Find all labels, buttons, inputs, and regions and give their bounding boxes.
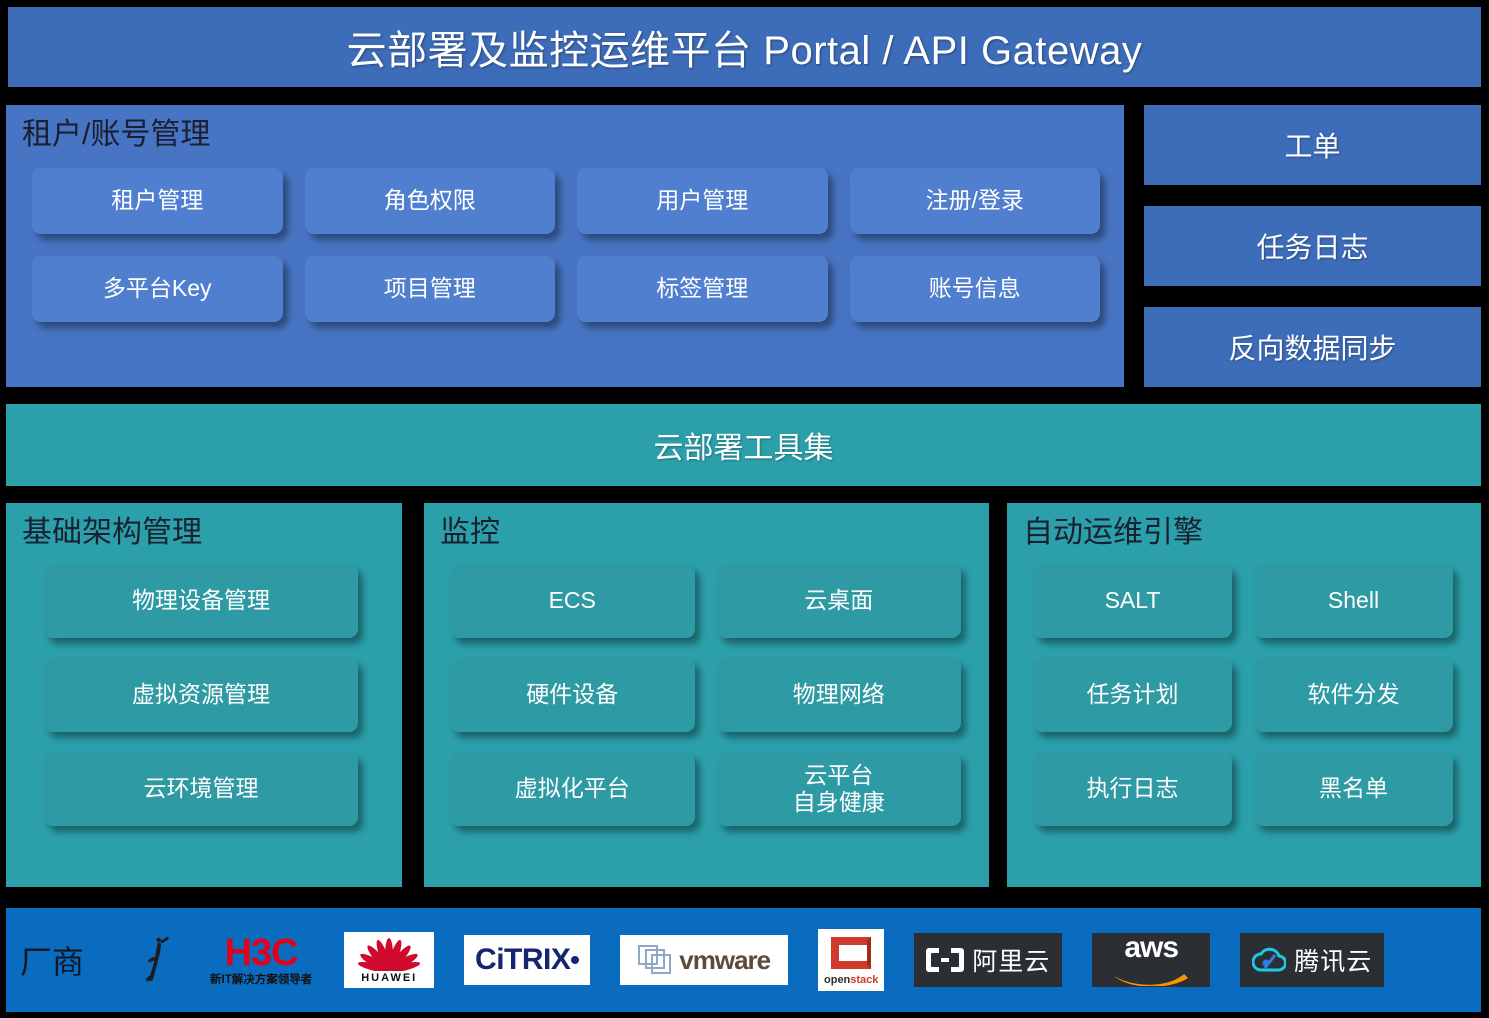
tenant-button[interactable]: 注册/登录 xyxy=(850,168,1101,234)
aws-wordmark: aws xyxy=(1124,934,1178,961)
monitoring-button[interactable]: 虚拟化平台 xyxy=(450,752,695,826)
tenant-button[interactable]: 项目管理 xyxy=(305,256,556,322)
tenant-button[interactable]: 标签管理 xyxy=(577,256,828,322)
openstack-wordmark: openstack xyxy=(824,974,878,986)
tenant-button[interactable]: 用户管理 xyxy=(577,168,828,234)
monitoring-button[interactable]: 物理网络 xyxy=(717,658,962,732)
monitoring-button[interactable]: 硬件设备 xyxy=(450,658,695,732)
monitoring-button[interactable]: 云桌面 xyxy=(717,564,962,638)
citrix-logo: CiTRIX xyxy=(464,935,590,985)
aws-swoosh-icon xyxy=(1112,970,1190,986)
tenant-button[interactable]: 账号信息 xyxy=(850,256,1101,322)
aws-logo: aws xyxy=(1092,933,1210,987)
h3c-logo: H3C 新IT解决方案领导者 xyxy=(208,932,314,988)
toolset-title: 云部署工具集 xyxy=(654,423,834,467)
automation-button[interactable]: SALT xyxy=(1033,564,1232,638)
automation-button[interactable]: Shell xyxy=(1254,564,1453,638)
vmware-wordmark: vmware xyxy=(679,945,770,976)
side-block-task-log[interactable]: 任务日志 xyxy=(1144,206,1481,286)
vmware-squares-icon xyxy=(638,945,672,975)
tenant-account-management-panel: 租户/账号管理 租户管理 角色权限 用户管理 注册/登录 多平台Key 项目管理… xyxy=(6,105,1124,387)
aliyun-logo: 阿里云 xyxy=(914,933,1062,987)
tenant-button-grid: 租户管理 角色权限 用户管理 注册/登录 多平台Key 项目管理 标签管理 账号… xyxy=(6,154,1124,342)
vendor-logo-list: H3C 新IT解决方案领导者 xyxy=(132,929,1467,991)
slide-canvas: 云部署及监控运维平台 Portal / API Gateway 租户/账号管理 … xyxy=(0,0,1489,1018)
monitoring-panel: 监控 ECS 云桌面 硬件设备 物理网络 虚拟化平台 云平台自身健康 xyxy=(424,503,989,887)
tenant-button[interactable]: 角色权限 xyxy=(305,168,556,234)
vendor-bar: 厂商 H3C 新IT解决方案领导者 xyxy=(6,908,1481,1012)
monitoring-button[interactable]: ECS xyxy=(450,564,695,638)
automation-engine-panel: 自动运维引擎 SALT Shell 任务计划 软件分发 执行日志 黑名单 xyxy=(1007,503,1481,887)
side-module-column: 工单 任务日志 反向数据同步 xyxy=(1144,105,1481,387)
h3c-wordmark: H3C xyxy=(225,934,298,972)
automation-button[interactable]: 执行日志 xyxy=(1033,752,1232,826)
page-header: 云部署及监控运维平台 Portal / API Gateway xyxy=(8,7,1481,87)
automation-button-grid: SALT Shell 任务计划 软件分发 执行日志 黑名单 xyxy=(1007,552,1481,826)
tenant-button[interactable]: 多平台Key xyxy=(32,256,283,322)
vmware-logo: vmware xyxy=(620,935,788,985)
h3c-tagline: 新IT解决方案领导者 xyxy=(210,975,312,987)
citrix-wordmark: CiTRIX xyxy=(475,943,570,977)
vendor-bar-label: 厂商 xyxy=(20,937,132,983)
automation-button[interactable]: 黑名单 xyxy=(1254,752,1453,826)
infrastructure-button[interactable]: 虚拟资源管理 xyxy=(44,658,358,732)
tencent-cloud-icon xyxy=(1252,946,1286,974)
monitoring-button-grid: ECS 云桌面 硬件设备 物理网络 虚拟化平台 云平台自身健康 xyxy=(424,552,989,826)
panel-title: 基础架构管理 xyxy=(6,503,402,552)
tenant-button[interactable]: 租户管理 xyxy=(32,168,283,234)
tenant-panel-title: 租户/账号管理 xyxy=(6,105,1124,154)
infrastructure-management-panel: 基础架构管理 物理设备管理 虚拟资源管理 云环境管理 xyxy=(6,503,402,887)
side-block-ticket[interactable]: 工单 xyxy=(1144,105,1481,185)
huawei-wordmark: HUAWEI xyxy=(361,972,417,984)
openstack-logo: openstack xyxy=(818,929,884,991)
infrastructure-button-grid: 物理设备管理 虚拟资源管理 云环境管理 xyxy=(6,552,402,826)
huawei-flower-icon xyxy=(352,937,426,971)
cheetah-logo xyxy=(132,932,178,988)
automation-button[interactable]: 软件分发 xyxy=(1254,658,1453,732)
capability-panel-row: 基础架构管理 物理设备管理 虚拟资源管理 云环境管理 监控 ECS 云桌面 硬件… xyxy=(6,503,1481,887)
tencent-cloud-wordmark: 腾讯云 xyxy=(1294,942,1372,978)
aliyun-wordmark: 阿里云 xyxy=(972,942,1050,978)
panel-title: 监控 xyxy=(424,503,989,552)
openstack-bracket-icon xyxy=(829,934,873,972)
citrix-dot-icon xyxy=(571,956,579,964)
monitoring-button[interactable]: 云平台自身健康 xyxy=(717,752,962,826)
cloud-deploy-toolset-band: 云部署工具集 xyxy=(6,404,1481,486)
page-title: 云部署及监控运维平台 Portal / API Gateway xyxy=(347,18,1143,76)
panel-title: 自动运维引擎 xyxy=(1007,503,1481,552)
infrastructure-button[interactable]: 云环境管理 xyxy=(44,752,358,826)
side-block-reverse-data-sync[interactable]: 反向数据同步 xyxy=(1144,307,1481,387)
infrastructure-button[interactable]: 物理设备管理 xyxy=(44,564,358,638)
tencent-cloud-logo: 腾讯云 xyxy=(1240,933,1384,987)
automation-button[interactable]: 任务计划 xyxy=(1033,658,1232,732)
huawei-logo: HUAWEI xyxy=(344,932,434,988)
aliyun-bracket-icon xyxy=(926,948,964,972)
